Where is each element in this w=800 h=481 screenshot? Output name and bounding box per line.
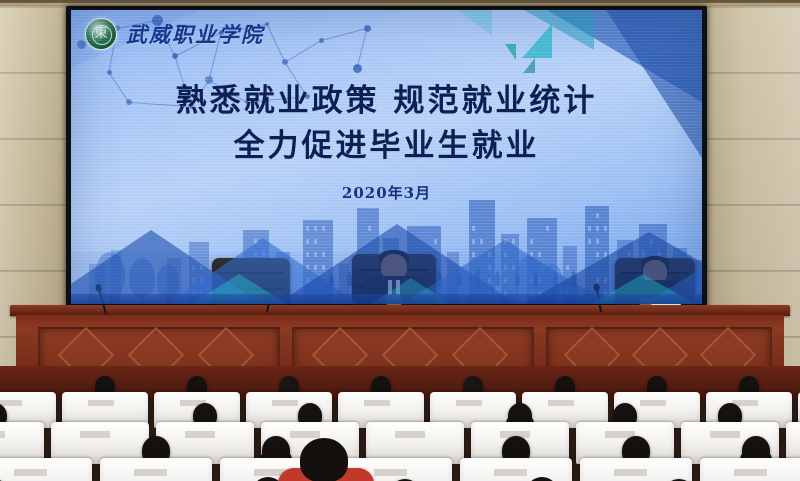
led-screen-frame: 束 武威职业学院 熟悉就业政策 规范就业统计 全力促进毕业生就业 2020年3月 xyxy=(66,6,707,309)
seat-paper xyxy=(185,431,214,438)
seat-paper xyxy=(456,400,482,406)
seat-paper xyxy=(14,469,48,477)
seat-paper xyxy=(640,400,666,406)
audience-seat xyxy=(0,458,92,481)
seat-paper xyxy=(710,431,739,438)
seat-paper xyxy=(364,400,390,406)
seat-paper xyxy=(272,400,298,406)
audience-seat xyxy=(100,458,212,481)
audience-seat xyxy=(460,458,572,481)
conference-hall-photo: 束 武威职业学院 熟悉就业政策 规范就业统计 全力促进毕业生就业 2020年3月 xyxy=(0,0,800,481)
audience-seating xyxy=(0,366,800,481)
seat-paper xyxy=(80,431,109,438)
led-screen: 束 武威职业学院 熟悉就业政策 规范就业统计 全力促进毕业生就业 2020年3月 xyxy=(71,10,702,304)
seat-paper xyxy=(0,431,5,438)
ceiling-shadow xyxy=(0,0,800,3)
audience-seat xyxy=(580,458,692,481)
skyline-ground xyxy=(71,294,702,304)
seat-paper xyxy=(614,469,648,477)
seat-paper xyxy=(395,431,424,438)
seat-paper xyxy=(548,400,574,406)
seat-paper xyxy=(374,469,408,477)
seat-paper xyxy=(734,469,768,477)
seat-paper xyxy=(88,400,114,406)
seat-paper xyxy=(290,431,319,438)
seat-paper xyxy=(494,469,528,477)
seat-paper xyxy=(134,469,168,477)
red-jacket-attendee-head xyxy=(300,438,348,481)
seat-paper xyxy=(0,400,22,406)
audience-seat xyxy=(700,458,800,481)
